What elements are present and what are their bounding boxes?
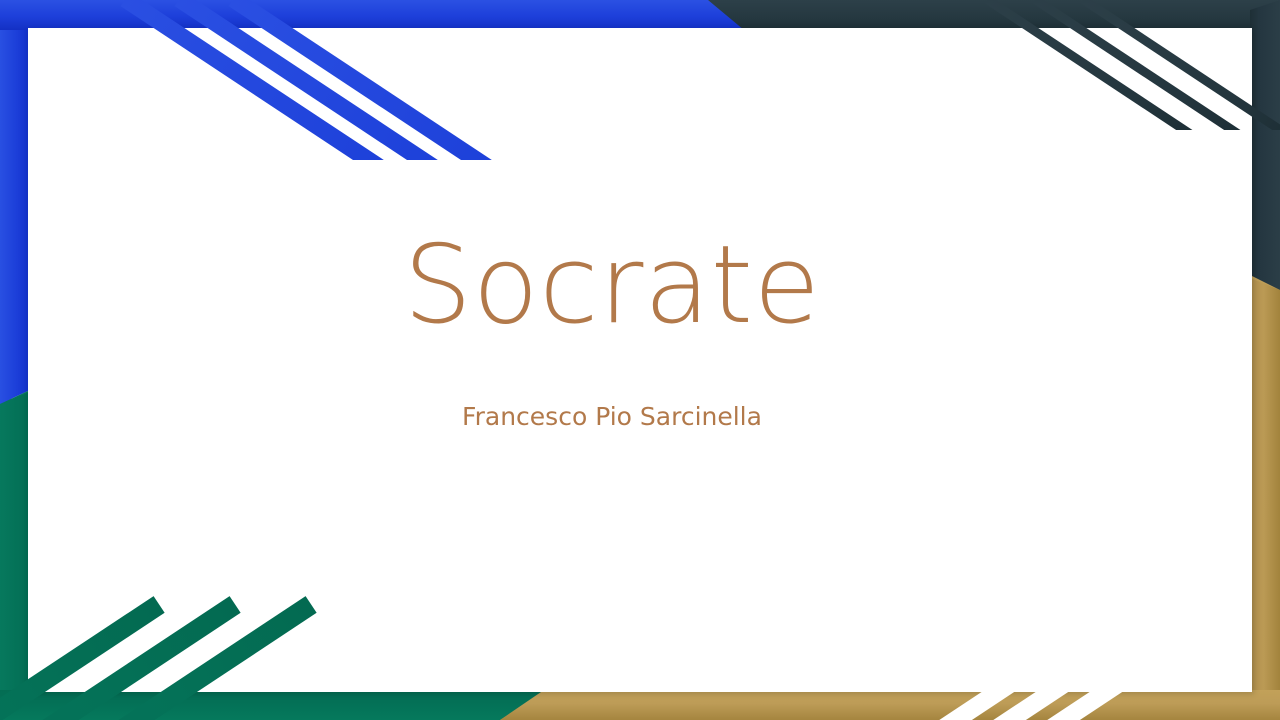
decoration-stripes-gold [920, 672, 1140, 720]
slide-subtitle: Francesco Pio Sarcinella [462, 402, 762, 431]
slide-title: Socrate [404, 229, 821, 342]
slide-text-content: Socrate Francesco Pio Sarcinella [0, 0, 1224, 664]
presentation-slide: Socrate Francesco Pio Sarcinella [0, 0, 1280, 720]
edge-band-gold-right [1250, 278, 1280, 720]
edge-band-gold-bottom [500, 690, 1280, 720]
